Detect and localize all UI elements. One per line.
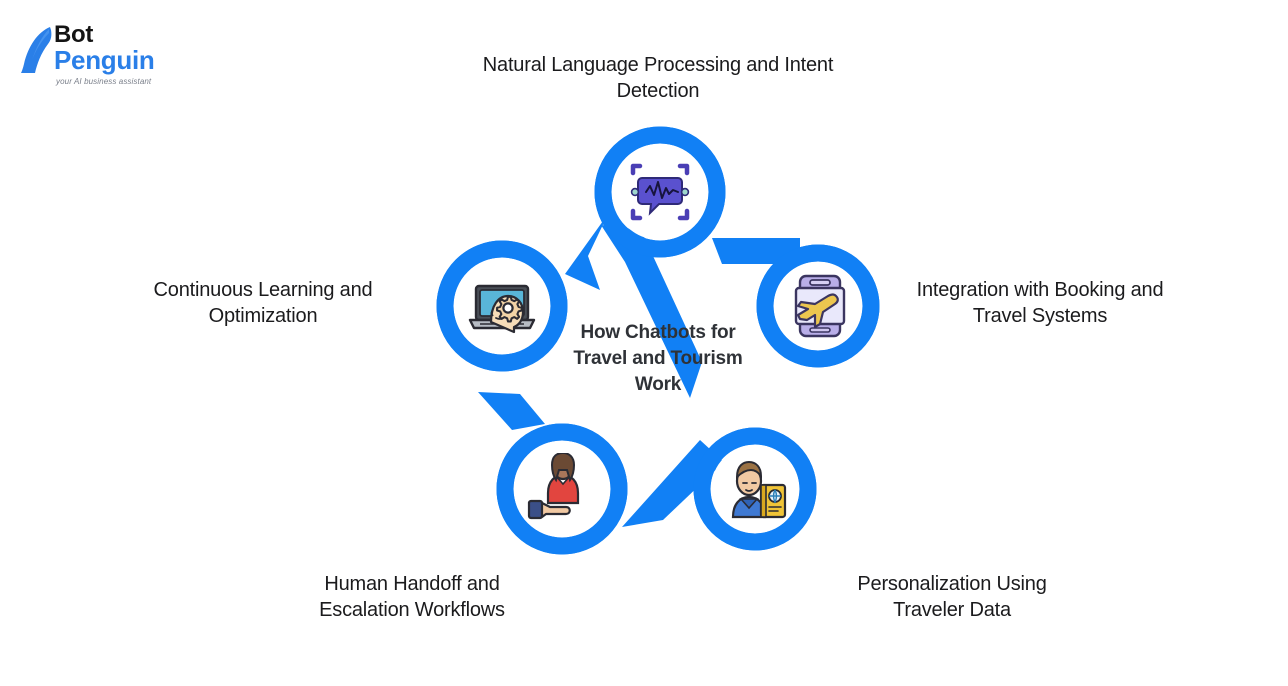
node-label-personalization: Personalization Using Traveler Data [826, 571, 1078, 623]
diagram-center-title: How Chatbots for Travel and Tourism Work [558, 320, 758, 398]
node-label-booking: Integration with Booking and Travel Syst… [894, 277, 1186, 329]
traveler-passport-icon [721, 453, 793, 525]
cycle-diagram: How Chatbots for Travel and Tourism Work [0, 0, 1288, 686]
boarding-pass-airplane-icon [784, 270, 856, 342]
arrow-learning-to-nlp [565, 214, 608, 290]
arrow-handoff-to-learning [478, 392, 545, 430]
speech-bubble-waveform-icon [624, 156, 696, 228]
laptop-brain-gear-icon [466, 270, 538, 342]
hand-holding-person-icon [526, 453, 598, 525]
node-label-handoff: Human Handoff and Escalation Workflows [286, 571, 538, 623]
node-label-learning: Continuous Learning and Optimization [116, 277, 410, 329]
node-label-nlp: Natural Language Processing and Intent D… [466, 52, 850, 104]
